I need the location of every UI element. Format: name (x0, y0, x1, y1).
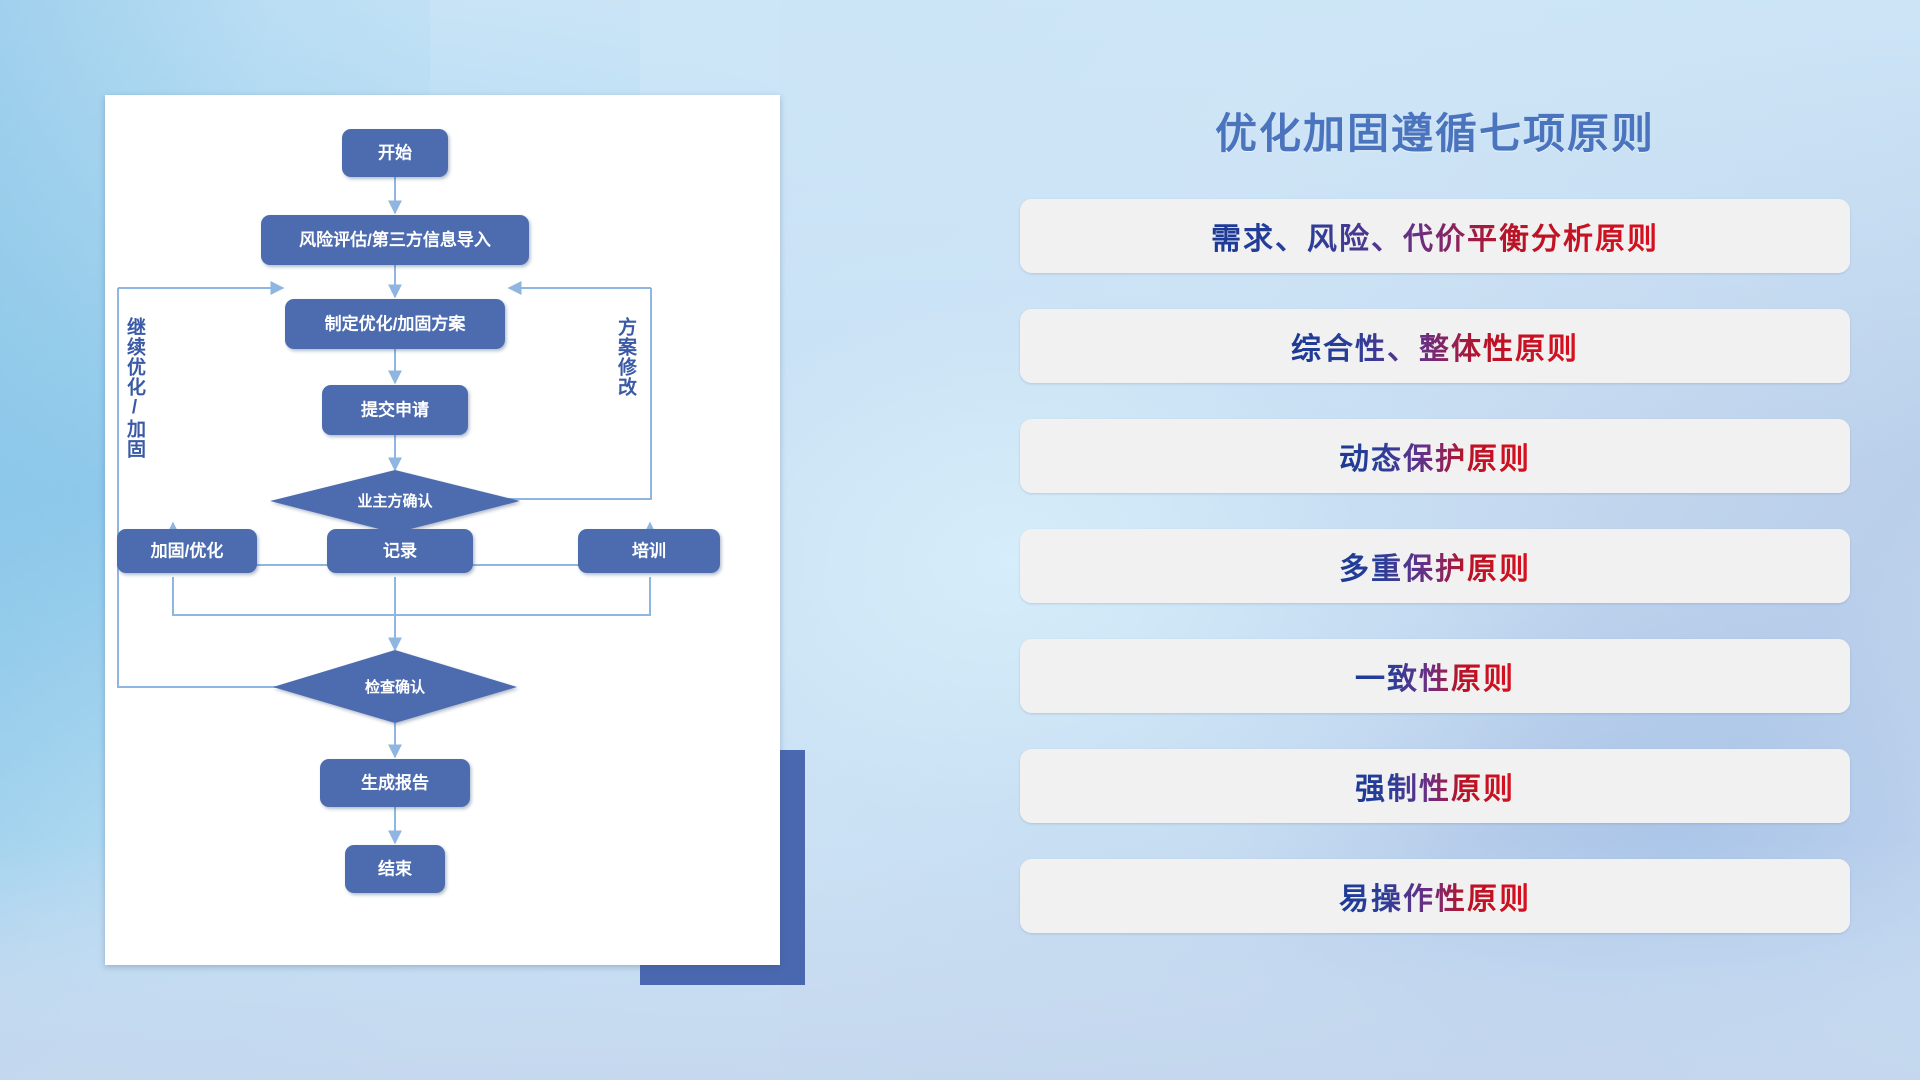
flow-label-owner: 业主方确认 (357, 492, 433, 510)
flowchart-diagram: 开始 风险评估/第三方信息导入 制定优化/加固方案 提交申请 业主方确认 加固/… (105, 95, 780, 965)
flow-label-plan: 制定优化/加固方案 (325, 313, 467, 333)
principle-item-5[interactable]: 一致性原则 (1020, 639, 1850, 713)
principle-item-2-label: 综合性、整体性原则 (1291, 324, 1579, 368)
principle-item-4-label: 多重保护原则 (1339, 544, 1531, 588)
flow-label-check: 检查确认 (365, 678, 426, 696)
principle-item-1[interactable]: 需求、风险、代价平衡分析原则 (1020, 199, 1850, 273)
principle-item-1-label: 需求、风险、代价平衡分析原则 (1211, 214, 1659, 258)
flow-label-submit: 提交申请 (361, 399, 429, 419)
flow-label-reinforce: 加固/优化 (150, 540, 224, 560)
flow-label-training: 培训 (632, 540, 666, 560)
principle-item-6[interactable]: 强制性原则 (1020, 749, 1850, 823)
flow-label-start: 开始 (378, 142, 412, 162)
flowchart-card: 继续优化/加固 方案修改 (105, 95, 780, 965)
principle-item-7[interactable]: 易操作性原则 (1020, 859, 1850, 933)
flow-label-risk: 风险评估/第三方信息导入 (299, 229, 491, 249)
flow-loop-left (118, 288, 315, 687)
panel-title: 优化加固遵循七项原则 (1020, 100, 1850, 161)
flow-label-end: 结束 (378, 858, 412, 878)
principle-item-4[interactable]: 多重保护原则 (1020, 529, 1850, 603)
flow-label-record: 记录 (383, 541, 417, 560)
principle-item-5-label: 一致性原则 (1355, 654, 1515, 698)
principle-item-7-label: 易操作性原则 (1339, 874, 1531, 918)
principles-panel: 优化加固遵循七项原则 需求、风险、代价平衡分析原则 综合性、整体性原则 动态保护… (1020, 80, 1850, 1020)
principle-item-3-label: 动态保护原则 (1339, 434, 1531, 478)
principle-item-6-label: 强制性原则 (1355, 764, 1515, 808)
principle-item-3[interactable]: 动态保护原则 (1020, 419, 1850, 493)
principle-item-2[interactable]: 综合性、整体性原则 (1020, 309, 1850, 383)
flow-label-report: 生成报告 (361, 772, 429, 792)
